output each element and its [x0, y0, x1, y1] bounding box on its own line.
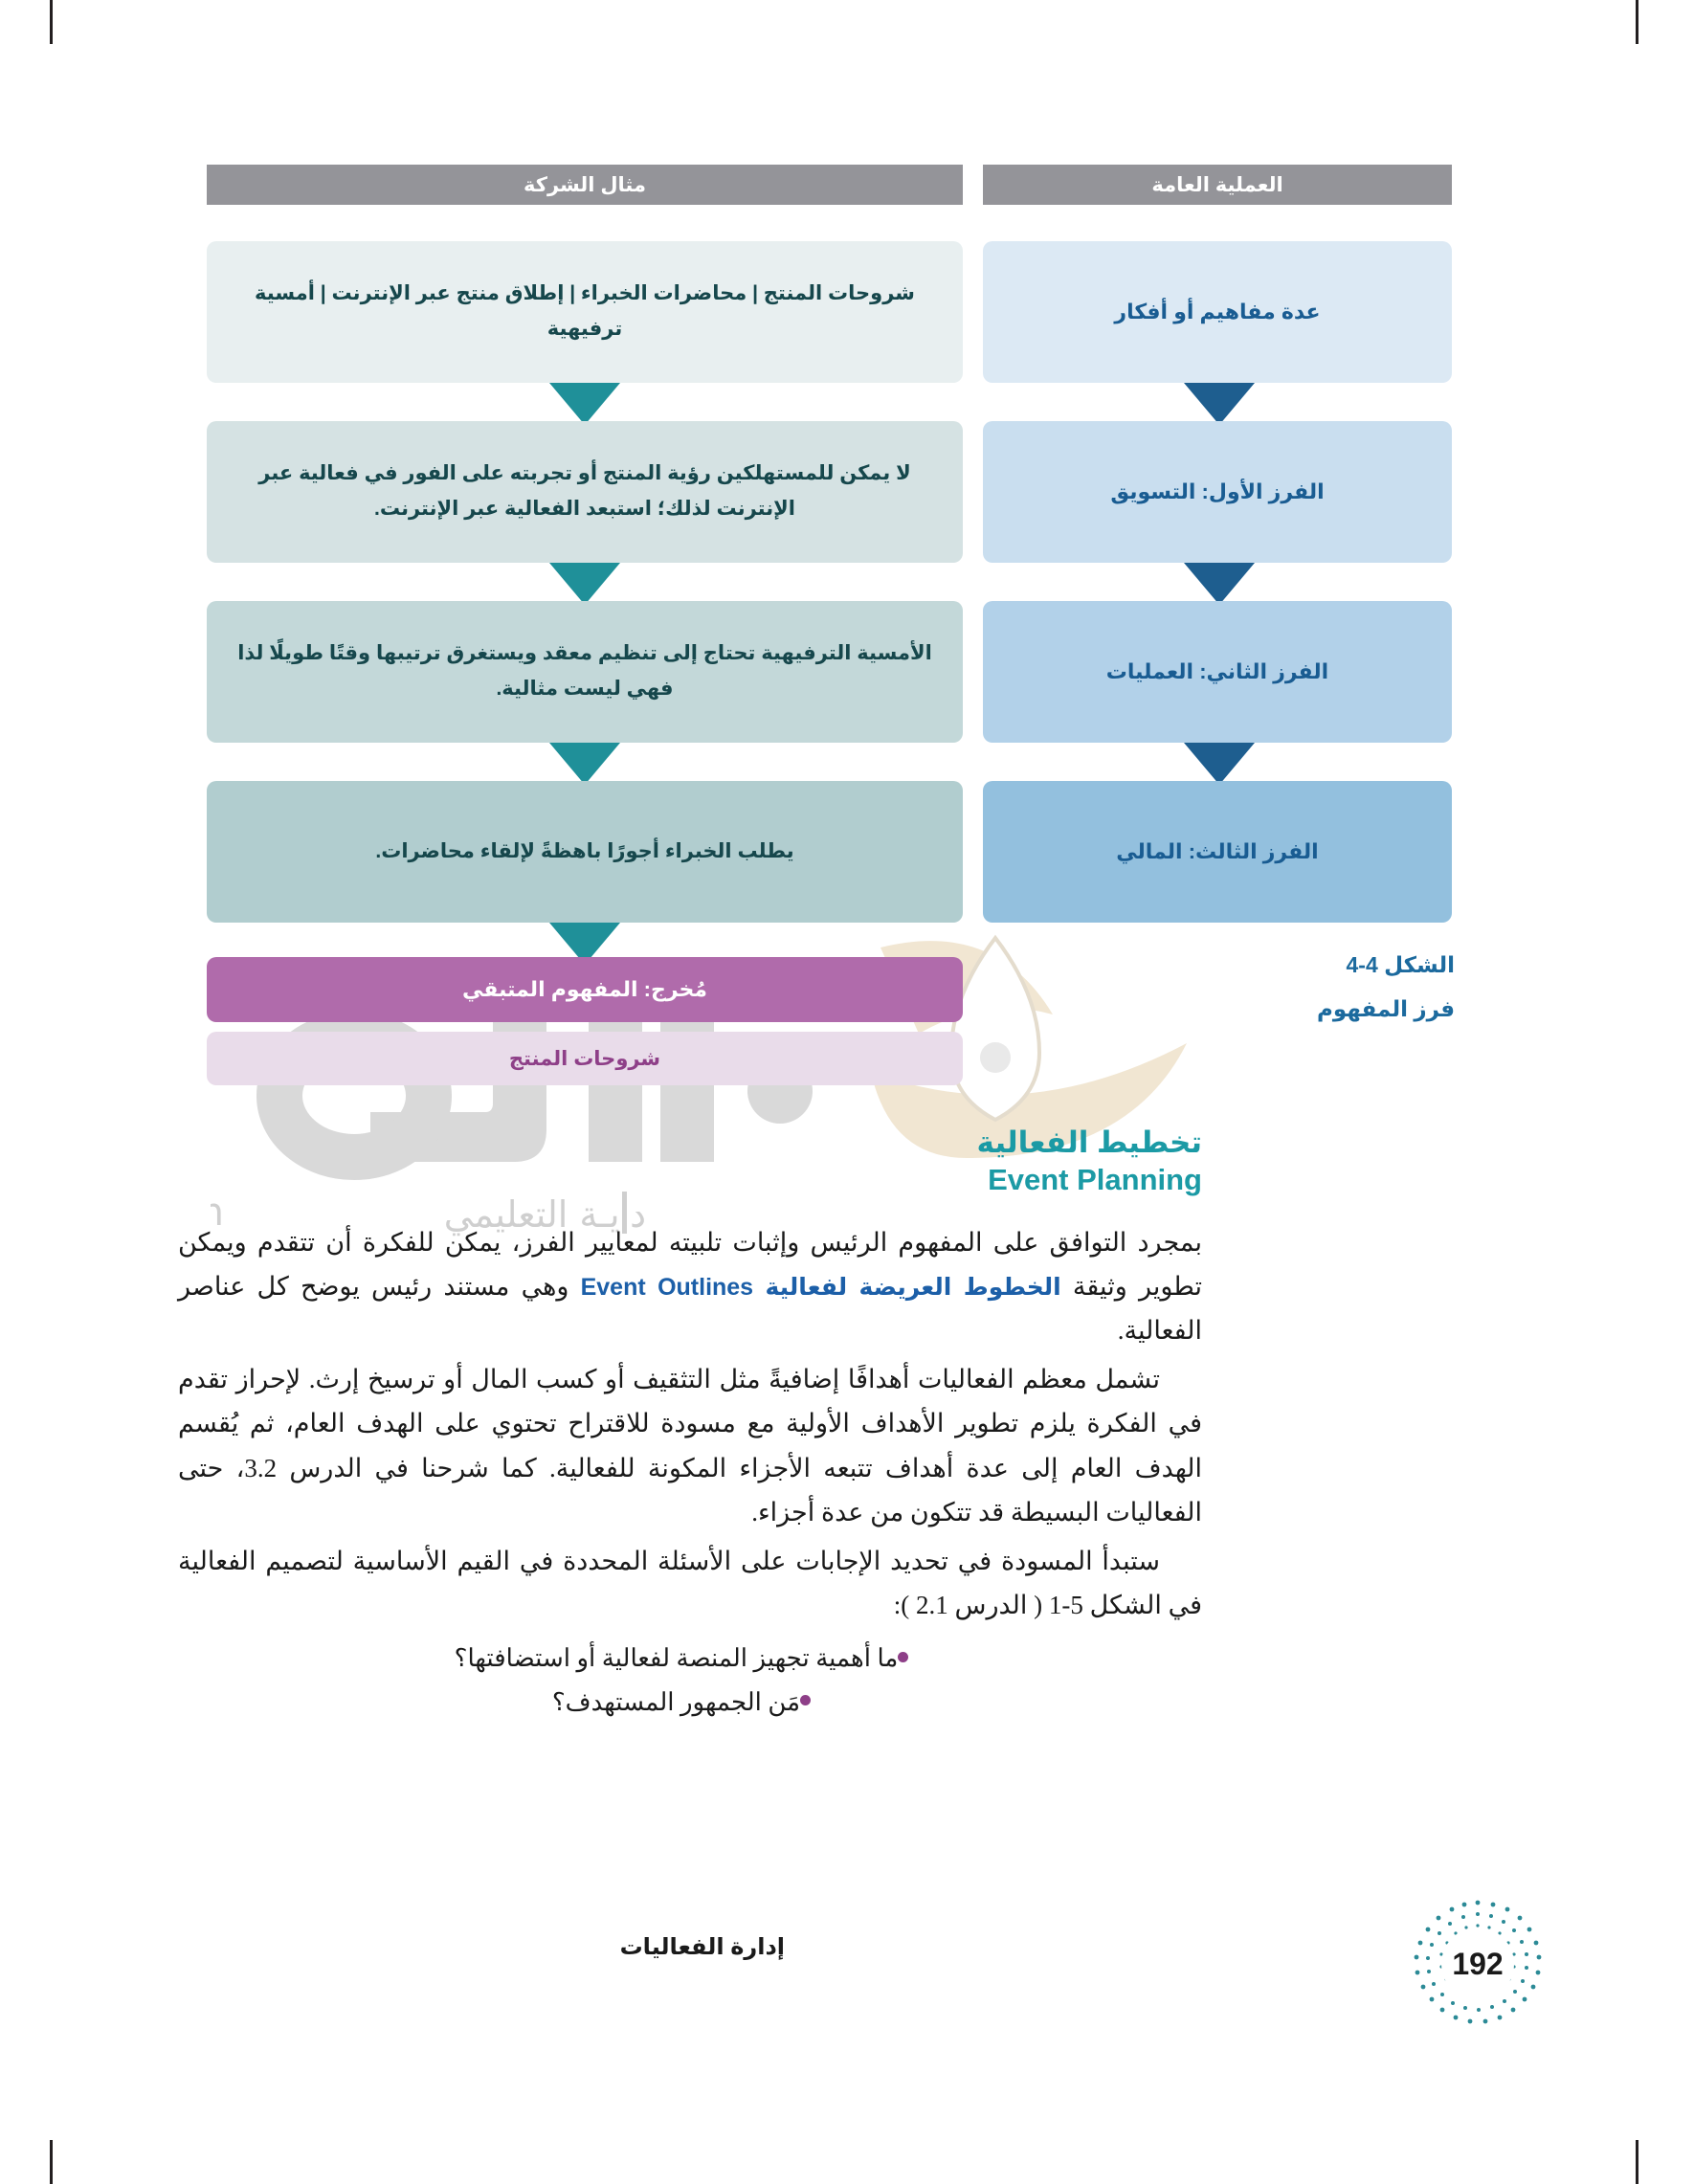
figure-caption-title: فرز المفهوم — [1168, 987, 1455, 1031]
page-number-text: 192 — [1411, 1897, 1545, 2031]
paragraph-3: ستبدأ المسودة في تحديد الإجابات على الأس… — [178, 1539, 1202, 1628]
connector-chevron-right-1 — [1184, 383, 1255, 425]
paragraph-1: بمجرد التوافق على المفهوم الرئيس وإثبات … — [178, 1220, 1202, 1353]
page-number-badge: 192 — [1411, 1897, 1545, 2031]
article-content: تخطيط الفعالية Event Planning بمجرد التو… — [178, 1125, 1202, 1724]
connector-chevron-right-3 — [1184, 743, 1255, 785]
connector-chevron-left-1 — [549, 383, 620, 425]
bullet-text: مَن الجمهور المستهدف؟ — [552, 1688, 800, 1716]
output-bar-remaining-concept: مُخرج: المفهوم المتبقي — [207, 957, 963, 1022]
process-box-2: الفرز الأول: التسويق — [983, 421, 1452, 563]
section-heading-arabic: تخطيط الفعالية — [178, 1125, 1202, 1162]
paragraph-2: تشمل معظم الفعاليات أهدافًا إضافيةً مثل … — [178, 1357, 1202, 1535]
output-bar-product-demos: شروحات المنتج — [207, 1032, 963, 1085]
list-item: مَن الجمهور المستهدف؟ — [178, 1681, 1202, 1725]
process-box-3: الفرز الثاني: العمليات — [983, 601, 1452, 743]
crop-mark-bottom-right — [1636, 2140, 1638, 2184]
column-header-general-process: العملية العامة — [983, 165, 1452, 205]
connector-chevron-left-3 — [549, 743, 620, 785]
company-example-box-2: لا يمكن للمستهلكين رؤية المنتج أو تجربته… — [207, 421, 963, 563]
concept-screening-figure: مثال الشركة العملية العامة شروحات المنتج… — [0, 0, 1694, 1110]
connector-chevron-right-2 — [1184, 563, 1255, 605]
connector-chevron-left-2 — [549, 563, 620, 605]
list-item: ما أهمية تجهيز المنصة لفعالية أو استضافت… — [178, 1637, 1202, 1681]
section-heading-english: Event Planning — [178, 1162, 1202, 1199]
crop-mark-bottom-left — [50, 2140, 53, 2184]
column-header-company-example: مثال الشركة — [207, 165, 963, 205]
company-example-box-4: يطلب الخبراء أجورًا باهظةً لإلقاء محاضرا… — [207, 781, 963, 923]
figure-caption-number: الشكل 4-4 — [1168, 943, 1455, 987]
question-bullet-list: ما أهمية تجهيز المنصة لفعالية أو استضافت… — [178, 1637, 1202, 1724]
bullet-text: ما أهمية تجهيز المنصة لفعالية أو استضافت… — [455, 1644, 899, 1672]
process-box-4: الفرز الثالث: المالي — [983, 781, 1452, 923]
company-example-box-1: شروحات المنتج | محاضرات الخبراء | إطلاق … — [207, 241, 963, 383]
bullet-dot-icon — [800, 1695, 811, 1705]
company-example-box-3: الأمسية الترفيهية تحتاج إلى تنظيم معقد و… — [207, 601, 963, 743]
bullet-dot-icon — [898, 1652, 908, 1662]
process-box-1: عدة مفاهيم أو أفكار — [983, 241, 1452, 383]
figure-caption: الشكل 4-4 فرز المفهوم — [1168, 943, 1455, 1031]
key-term-event-outlines: الخطوط العريضة لفعالية Event Outlines — [581, 1274, 1061, 1301]
footer-book-title: إدارة الفعاليات — [620, 1933, 785, 1961]
